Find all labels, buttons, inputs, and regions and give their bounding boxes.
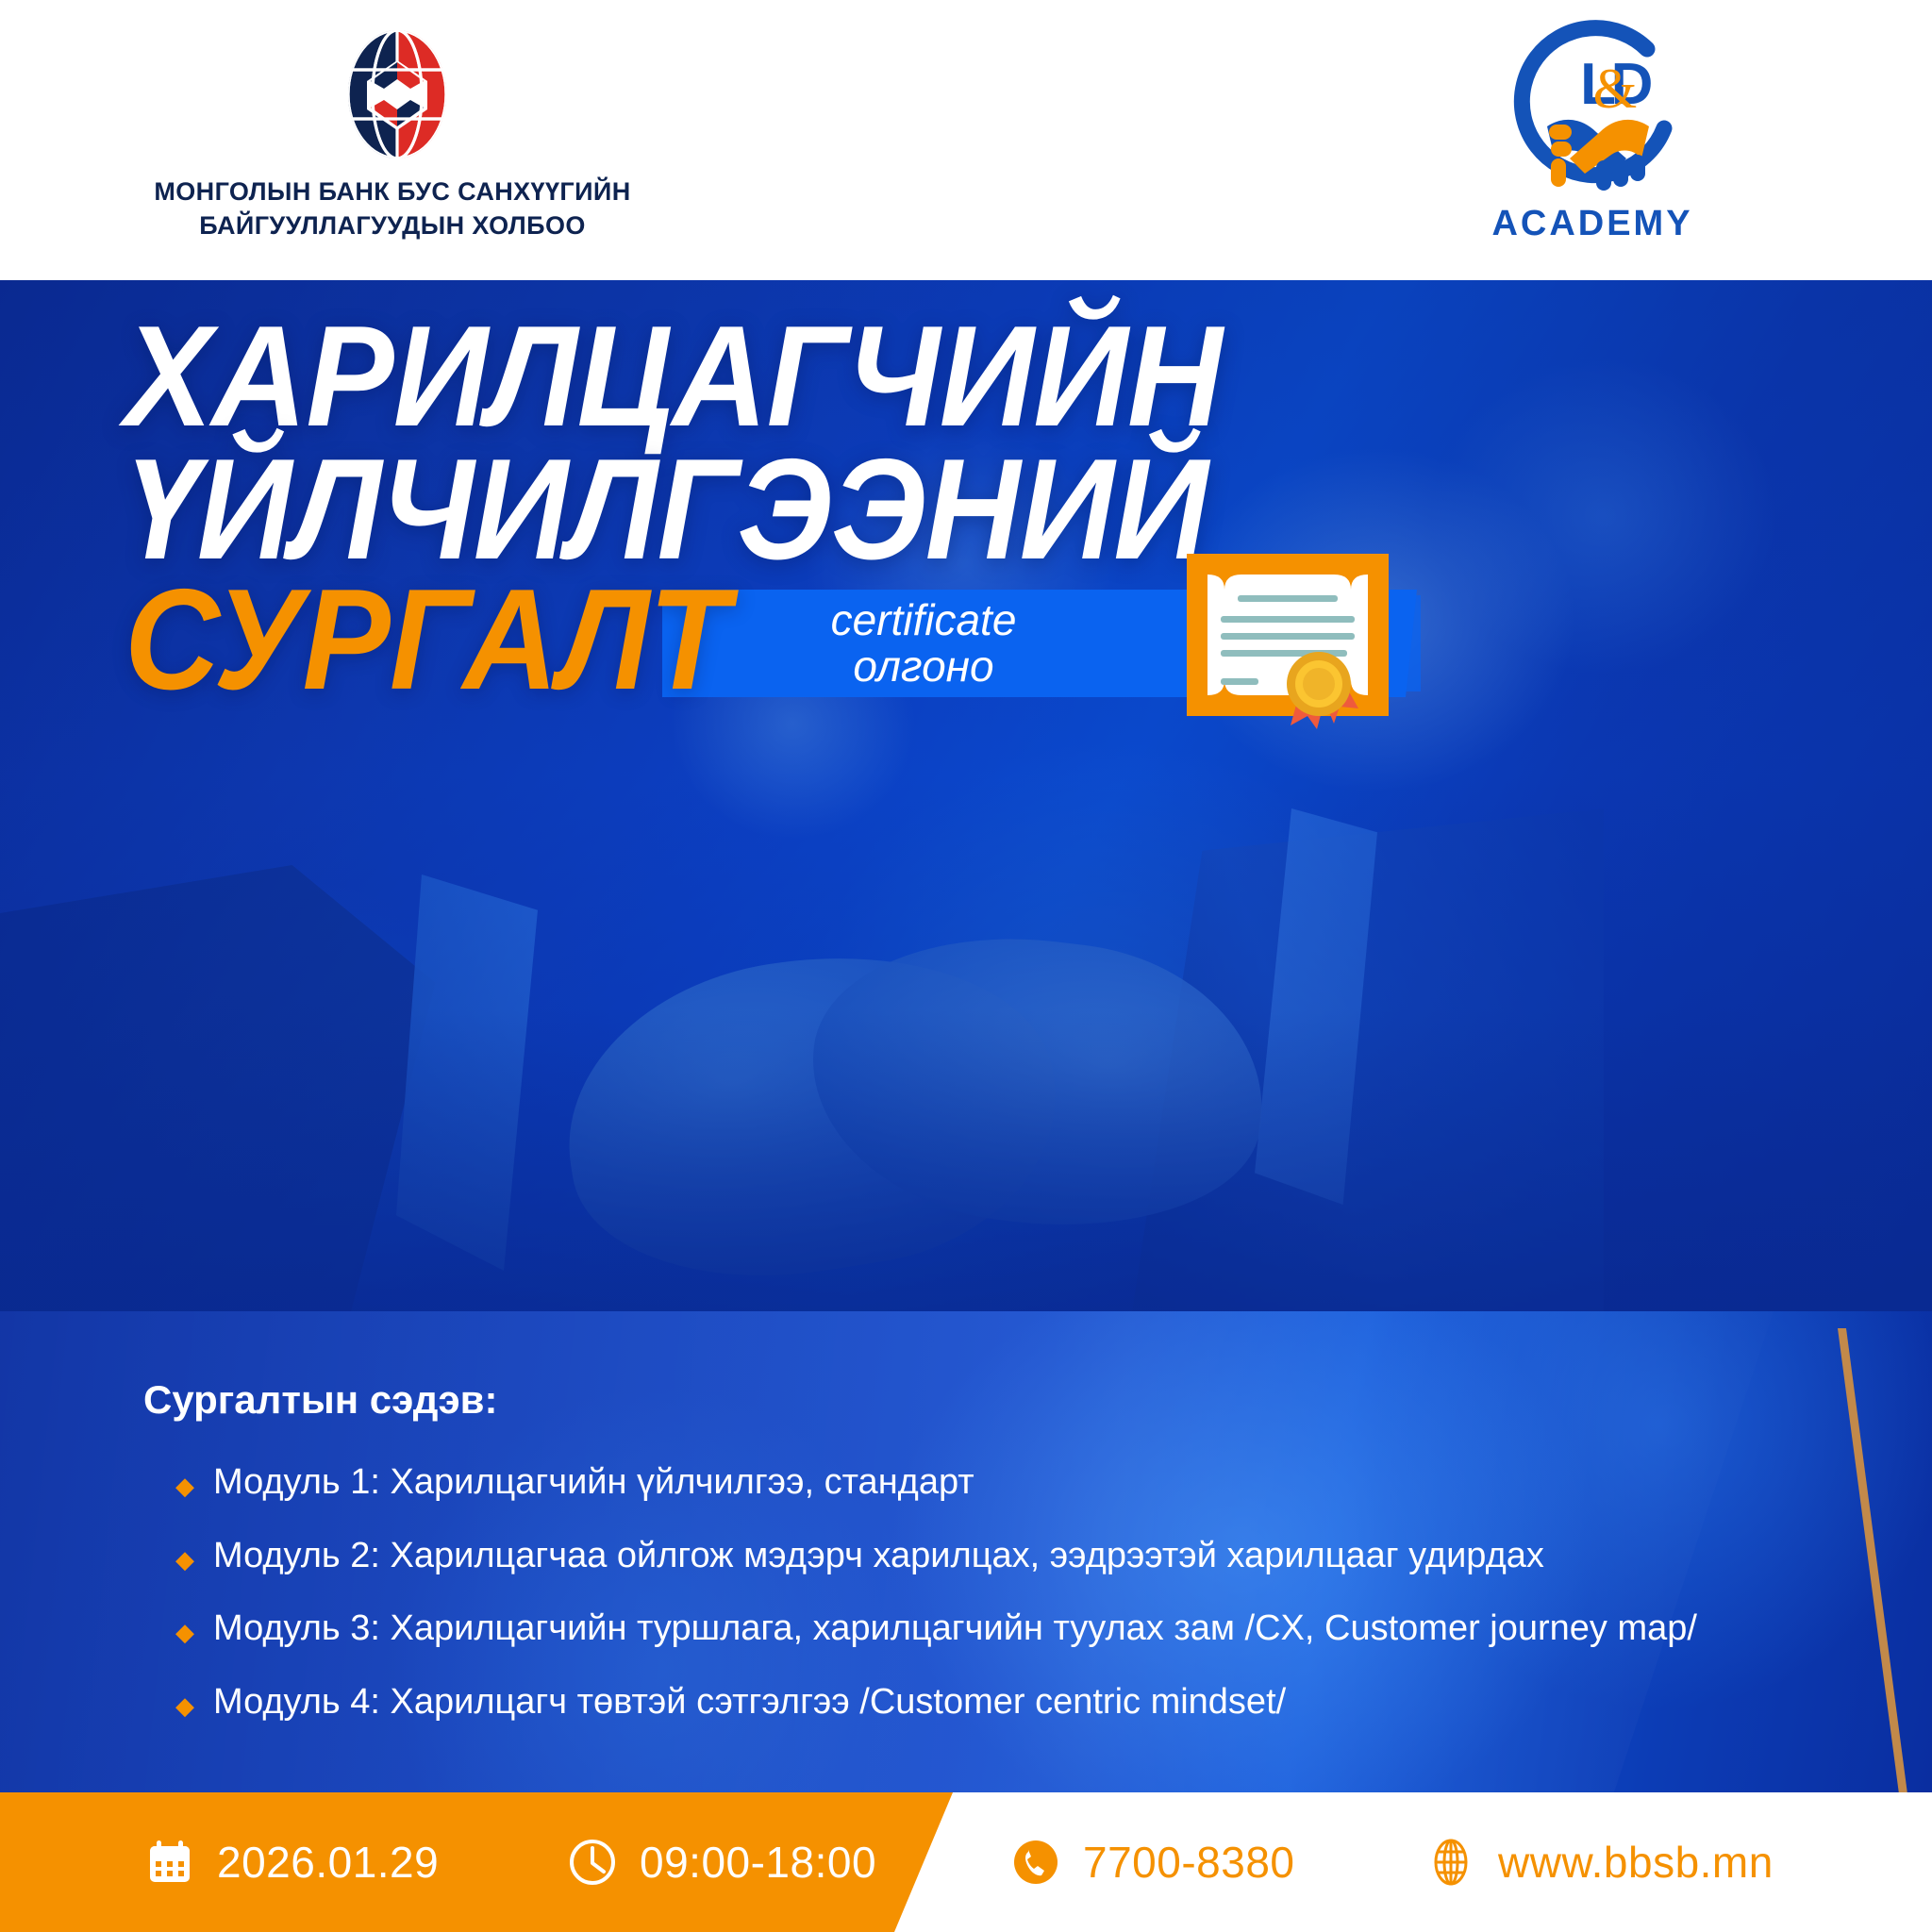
diamond-bullet-icon: ◆ — [175, 1693, 194, 1718]
hero-title-line3: СУРГАЛТ — [125, 568, 728, 711]
calendar-icon — [143, 1836, 196, 1889]
list-item: ◆ Модуль 3: Харилцагчийн туршлага, харил… — [175, 1608, 1697, 1650]
ld-handshake-circle-icon: L D & — [1506, 17, 1690, 206]
footer-phone-value: 7700-8380 — [1083, 1837, 1294, 1888]
topics-panel: Сургалтын сэдэв: ◆ Модуль 1: Харилцагчий… — [0, 1311, 1932, 1792]
hero-title-line1: ХАРИЛЦАГЧИЙН — [125, 310, 1222, 443]
diamond-bullet-icon: ◆ — [175, 1474, 194, 1498]
footer-time-value: 09:00-18:00 — [640, 1837, 876, 1888]
association-name-line2: БАЙГУУЛЛАГУУДЫН ХОЛБОО — [119, 209, 666, 243]
footer-date: 2026.01.29 — [143, 1836, 439, 1889]
header-bar: МОНГОЛЫН БАНК БУС САНХҮҮГИЙН БАЙГУУЛЛАГУ… — [0, 0, 1932, 280]
footer-website[interactable]: www.bbsb.mn — [1424, 1836, 1774, 1889]
association-logo: МОНГОЛЫН БАНК БУС САНХҮҮГИЙН БАЙГУУЛЛАГУ… — [119, 13, 666, 268]
hero-section: ХАРИЛЦАГЧИЙН ҮЙЛЧИЛГЭЭНИЙ СУРГАЛТ certif… — [0, 280, 1932, 1311]
footer-phone[interactable]: 7700-8380 — [1009, 1836, 1294, 1889]
list-item: ◆ Модуль 2: Харилцагчаа ойлгож мэдэрч ха… — [175, 1536, 1697, 1577]
association-name-line1: МОНГОЛЫН БАНК БУС САНХҮҮГИЙН — [119, 175, 666, 209]
list-item: ◆ Модуль 1: Харилцагчийн үйлчилгээ, стан… — [175, 1462, 1697, 1504]
footer-time: 09:00-18:00 — [566, 1836, 876, 1889]
globe-logo-icon — [341, 28, 454, 160]
module-text: Модуль 2: Харилцагчаа ойлгож мэдэрч хари… — [213, 1536, 1544, 1577]
diamond-bullet-icon: ◆ — [175, 1547, 194, 1572]
hero-title: ХАРИЛЦАГЧИЙН ҮЙЛЧИЛГЭЭНИЙ — [125, 310, 1317, 577]
academy-logo: L D & ACADEMY — [1460, 17, 1724, 270]
poster-root: МОНГОЛЫН БАНК БУС САНХҮҮГИЙН БАЙГУУЛЛАГУ… — [0, 0, 1932, 1932]
academy-label: ACADEMY — [1460, 204, 1724, 244]
footer-items: 2026.01.29 09:00-18:00 — [0, 1792, 1932, 1932]
hero-title-line2: ҮЙЛЧИЛГЭЭНИЙ — [125, 443, 1222, 576]
footer-date-value: 2026.01.29 — [217, 1837, 439, 1888]
list-item: ◆ Модуль 4: Харилцагч төвтэй сэтгэлгээ /… — [175, 1682, 1697, 1724]
association-name: МОНГОЛЫН БАНК БУС САНХҮҮГИЙН БАЙГУУЛЛАГУ… — [119, 175, 666, 242]
globe-icon — [1424, 1836, 1477, 1889]
phone-icon — [1009, 1836, 1062, 1889]
clock-icon — [566, 1836, 619, 1889]
module-list: ◆ Модуль 1: Харилцагчийн үйлчилгээ, стан… — [175, 1462, 1697, 1756]
module-text: Модуль 1: Харилцагчийн үйлчилгээ, станда… — [213, 1462, 974, 1504]
diamond-bullet-icon: ◆ — [175, 1620, 194, 1644]
certificate-award-icon — [1179, 541, 1404, 729]
module-text: Модуль 4: Харилцагч төвтэй сэтгэлгээ /Cu… — [213, 1682, 1286, 1724]
module-text: Модуль 3: Харилцагчийн туршлага, харилца… — [213, 1608, 1697, 1650]
footer-bar: 2026.01.29 09:00-18:00 — [0, 1792, 1932, 1932]
svg-text:&: & — [1593, 58, 1638, 120]
footer-website-value: www.bbsb.mn — [1498, 1837, 1774, 1888]
hero-subtitle-row: СУРГАЛТ — [125, 568, 781, 711]
topics-heading: Сургалтын сэдэв: — [143, 1377, 497, 1423]
